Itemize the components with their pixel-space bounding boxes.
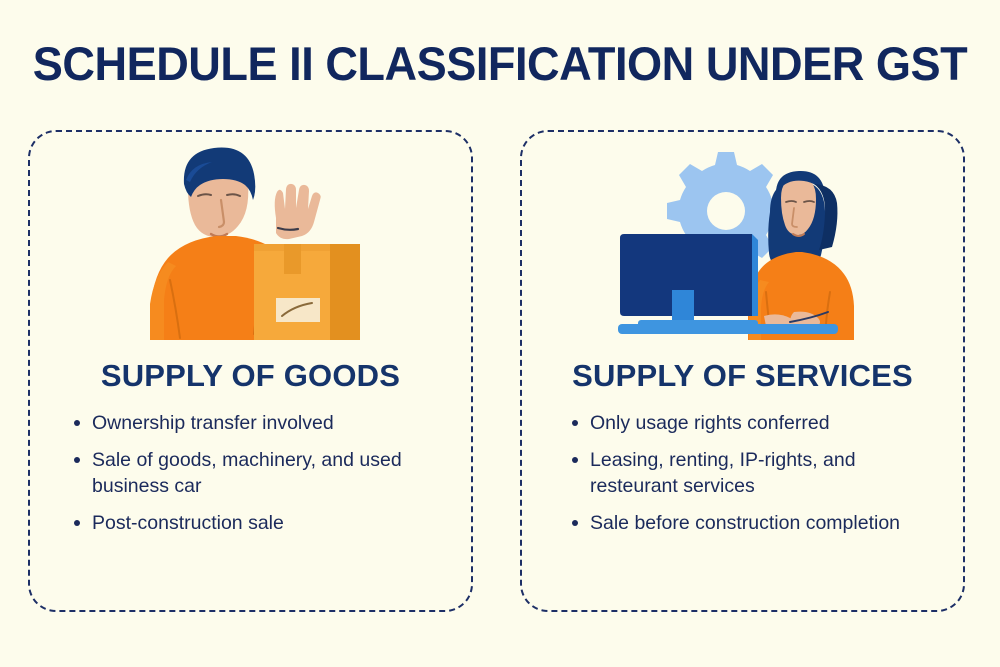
list-item: Sale before construction completion (566, 510, 945, 536)
raised-hand-icon (274, 184, 320, 239)
bullet-list-supply-of-services: Only usage rights conferred Leasing, ren… (566, 410, 945, 547)
woman-at-computer-with-gear-illustration (522, 140, 963, 350)
list-item: Sale of goods, machinery, and used busin… (68, 447, 447, 499)
list-item: Only usage rights conferred (566, 410, 945, 436)
bullet-list-supply-of-goods: Ownership transfer involved Sale of good… (68, 410, 447, 547)
list-item: Ownership transfer involved (68, 410, 447, 436)
card-supply-of-services: SUPPLY OF SERVICES Only usage rights con… (520, 130, 965, 612)
infographic-page: SCHEDULE II CLASSIFICATION UNDER GST (0, 0, 1000, 667)
card-heading-supply-of-goods: SUPPLY OF GOODS (30, 358, 471, 394)
page-title: SCHEDULE II CLASSIFICATION UNDER GST (20, 38, 980, 90)
list-item: Leasing, renting, IP-rights, and resteur… (566, 447, 945, 499)
card-heading-supply-of-services: SUPPLY OF SERVICES (522, 358, 963, 394)
man-head (183, 148, 254, 237)
cardboard-box-icon (254, 244, 360, 340)
man-with-cardboard-box-illustration (30, 140, 471, 350)
card-supply-of-goods: SUPPLY OF GOODS Ownership transfer invol… (28, 130, 473, 612)
list-item: Post-construction sale (68, 510, 447, 536)
